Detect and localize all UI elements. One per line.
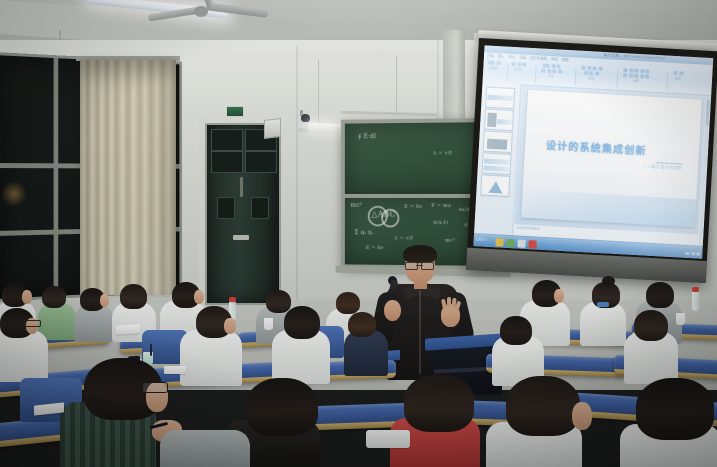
group-label: 剪贴板	[489, 66, 498, 70]
maximize-icon[interactable]	[691, 252, 695, 256]
notebook[interactable]	[116, 324, 140, 335]
paper-cup[interactable]	[264, 318, 273, 330]
speaker-hair	[403, 245, 437, 263]
bottle-cap	[229, 297, 236, 302]
student-head	[634, 310, 668, 341]
chalk-note: λ = c/f	[395, 235, 413, 241]
student-head	[336, 292, 360, 314]
student-face	[224, 318, 236, 334]
eyeglasses-icon	[24, 320, 41, 327]
student-head	[284, 306, 320, 339]
ribbon-group-editing[interactable]: 编辑	[673, 71, 683, 81]
window-controls[interactable]	[685, 251, 700, 255]
chalk-note: F = ma	[431, 203, 451, 209]
lecture-hall-photo: ∮ E·dl λ = c/f mc² △ABC E = hv F = ma ∂u…	[0, 0, 717, 467]
lamp-wire	[396, 56, 397, 114]
group-label: 字体	[548, 74, 554, 78]
wall-speaker-icon	[264, 118, 281, 139]
notes-placeholder: 单击此处添加备注	[516, 225, 539, 230]
student-head	[266, 290, 291, 313]
slide-thumbnail[interactable]	[485, 86, 515, 109]
current-slide[interactable]: 设计的系统集成创新 ——基于设计的创新	[521, 90, 702, 228]
student-head	[646, 282, 674, 308]
ribbon-group-clipboard[interactable]: 剪贴板	[487, 61, 500, 71]
ribbon-group-slides[interactable]: 幻灯片	[511, 62, 526, 72]
speaker-hand-holding-mic	[384, 300, 401, 321]
student-head	[500, 316, 532, 345]
slide-decor-band	[521, 190, 696, 228]
scrollbar-thumb[interactable]	[705, 100, 709, 126]
chalk-note: Σ aᵢ xᵢ	[354, 229, 373, 236]
ribbon-group-paragraph[interactable]: 段落	[581, 66, 602, 81]
taskbar-icon-document[interactable]	[517, 239, 525, 247]
minimize-icon[interactable]	[685, 251, 689, 255]
tab-review[interactable]: 审阅	[551, 56, 558, 61]
taskbar-icon-folder[interactable]	[495, 238, 503, 246]
student-torso	[580, 302, 626, 346]
chalk-note: λ = c/f	[433, 150, 452, 156]
slide-thumbnail[interactable]	[484, 108, 514, 131]
student-head	[42, 286, 66, 308]
student-head	[120, 284, 147, 309]
classroom-door[interactable]	[205, 123, 281, 305]
slide-thumbnail[interactable]	[483, 130, 513, 153]
student-face	[194, 290, 204, 304]
group-label: 幻灯片	[515, 67, 524, 71]
screen-surface: 演示文稿 - Microsoft PowerPoint 开始 插入 设计 动画 …	[473, 45, 713, 258]
status-text: 幻灯片 1	[476, 237, 488, 242]
speaker-shirt-placket	[419, 290, 421, 374]
student-head	[348, 312, 376, 337]
slide-title: 设计的系统集成创新	[546, 137, 647, 158]
student-torso	[0, 330, 48, 382]
tissue[interactable]	[164, 366, 186, 374]
speaker-hand-gesturing	[441, 304, 460, 327]
chalk-note: E = hv	[366, 245, 384, 251]
student-torso	[180, 330, 242, 386]
group-label: 段落	[588, 76, 594, 80]
bottle-cap	[692, 287, 699, 292]
taskbar-icon-media[interactable]	[528, 240, 536, 248]
eyeglasses-icon	[405, 262, 434, 268]
tab-insert[interactable]: 插入	[498, 53, 505, 58]
chalk-note: n(x,t)	[433, 220, 448, 226]
ribbon-group-drawing[interactable]: 绘图	[623, 68, 650, 83]
exit-sign	[226, 106, 244, 117]
student-face	[22, 290, 32, 304]
student-head-foreground	[636, 378, 714, 440]
ribbon-group-font[interactable]: 字体	[541, 64, 562, 79]
tab-slideshow[interactable]: 幻灯片放映	[530, 55, 547, 61]
window-distant-light	[2, 180, 26, 208]
chalk-note: ∮ E·dl	[358, 133, 376, 140]
chalk-note: mc²	[351, 202, 363, 209]
close-icon[interactable]	[696, 252, 700, 256]
taskbar-icon-app[interactable]	[506, 238, 514, 246]
tissue[interactable]	[366, 430, 410, 448]
student-face	[100, 294, 109, 307]
chalk-note: △ABC	[372, 210, 396, 219]
tab-home[interactable]: 开始	[487, 52, 494, 57]
slide-stage: 设计的系统集成创新 ——基于设计的创新	[515, 85, 706, 234]
tab-design[interactable]: 设计	[508, 54, 515, 59]
chalk-note: E = hv	[404, 204, 422, 210]
student-torso	[160, 430, 250, 467]
student-head-foreground	[506, 376, 580, 436]
water-bottle[interactable]	[692, 291, 699, 311]
slide-subtitle: ——基于设计的创新	[643, 163, 683, 171]
curtain	[80, 60, 176, 295]
tab-view[interactable]: 视图	[562, 57, 569, 62]
security-camera-icon	[301, 114, 310, 122]
powerpoint-window: 演示文稿 - Microsoft PowerPoint 开始 插入 设计 动画 …	[473, 45, 713, 258]
eyeglasses-icon	[142, 382, 168, 393]
tab-animation[interactable]: 动画	[519, 54, 526, 59]
slide-thumbnail[interactable]	[481, 152, 511, 175]
lanyard	[597, 302, 609, 307]
projection-screen: 演示文稿 - Microsoft PowerPoint 开始 插入 设计 动画 …	[466, 38, 717, 283]
slide-thumbnail[interactable]	[480, 174, 510, 197]
group-label: 绘图	[633, 79, 639, 83]
hair-bun	[602, 276, 615, 286]
student-head-foreground	[246, 378, 318, 436]
student-face	[572, 402, 592, 430]
student-face	[554, 289, 564, 303]
student-head-foreground	[404, 374, 474, 432]
chalk-note: mc²	[445, 238, 455, 244]
lamp-wire	[318, 60, 319, 132]
pen[interactable]	[150, 344, 152, 356]
paper-cup[interactable]	[676, 313, 685, 325]
group-label: 编辑	[675, 76, 681, 80]
